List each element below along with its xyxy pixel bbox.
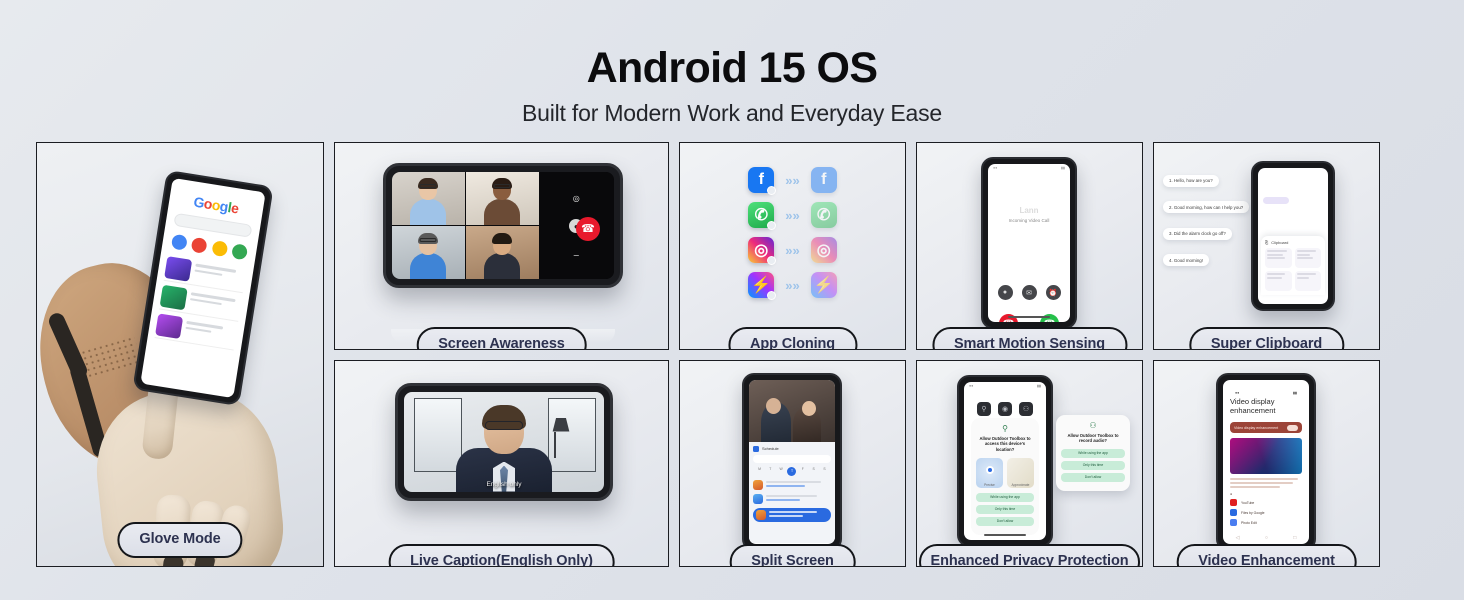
card-text <box>184 318 238 348</box>
feature-card-app-cloning[interactable]: f »» f ✆ »» ✆ ◎ »» ◎ ⚡ »» ⚡ App Cloning <box>679 142 906 350</box>
facebook-icon[interactable]: f <box>748 167 774 193</box>
day-item[interactable]: W <box>777 467 786 476</box>
status-bar: ●●▮▮ <box>988 164 1070 172</box>
rugged-phone-split-screen: Schedule M T W T F S S <box>742 373 842 551</box>
message-row <box>1263 187 1323 194</box>
feature-card-screen-awareness[interactable]: ◎ ● ⚊ ☎ Screen Awareness <box>334 142 669 350</box>
permission-option[interactable]: Don't allow <box>976 517 1034 526</box>
video-person-head <box>766 398 781 414</box>
card-thumbnail <box>164 256 192 282</box>
split-screen-display: Schedule M T W T F S S <box>749 380 835 544</box>
avatar <box>753 494 763 504</box>
rugged-phone-video-enhancement: ●●▮▮ Video display enhancement Video dis… <box>1216 373 1316 551</box>
participant-tile[interactable] <box>392 226 465 279</box>
clipboard-bubble: 4. Good morning! <box>1163 254 1209 266</box>
home-icon[interactable]: ○ <box>1265 535 1268 541</box>
participant-grid <box>392 172 539 279</box>
facebook-clone-icon[interactable]: f <box>811 167 837 193</box>
participant-tile[interactable] <box>466 226 539 279</box>
google-search-screen: Google <box>140 178 265 398</box>
location-pin-icon: ⚲ <box>976 424 1034 433</box>
clone-arrow-icon: »» <box>785 243 799 258</box>
status-bar: ●●▮▮ <box>964 382 1046 390</box>
map-caption: Approximate <box>1007 483 1034 487</box>
permission-option[interactable]: While using the app <box>1061 449 1125 458</box>
enhancement-toggle-row[interactable]: Video display enhancement <box>1230 422 1302 433</box>
app-name: YouTube <box>1241 501 1254 505</box>
page-subtitle: Built for Modern Work and Everyday Ease <box>0 100 1464 127</box>
clone-row: ✆ »» ✆ <box>748 202 836 228</box>
day-item[interactable]: F <box>798 467 807 476</box>
toggle-label: Video display enhancement <box>1234 426 1278 430</box>
photo-edit-icon <box>1230 519 1237 526</box>
map-pin-icon <box>986 466 994 474</box>
message-icon[interactable]: ✉ <box>1022 285 1037 300</box>
feature-label-app-cloning[interactable]: App Cloning <box>728 327 857 350</box>
clone-badge <box>767 221 776 230</box>
video-preview-image <box>1230 438 1302 474</box>
whatsapp-icon[interactable]: ✆ <box>748 202 774 228</box>
sent-message-bubble <box>1263 197 1289 204</box>
list-item[interactable] <box>753 494 831 504</box>
supported-apps-label: ● <box>1230 492 1302 496</box>
app-name: Files by Google <box>1241 511 1265 515</box>
app-name: Photo Edit <box>1241 521 1257 525</box>
feature-label-glove-mode[interactable]: Glove Mode <box>117 522 242 558</box>
glasses-icon <box>485 421 523 430</box>
split-bottom-app[interactable]: Schedule M T W T F S S <box>749 442 835 544</box>
toggle-switch[interactable] <box>1287 425 1298 431</box>
day-item[interactable]: S <box>809 467 818 476</box>
app-clone-list: f »» f ✆ »» ✆ ◎ »» ◎ ⚡ »» ⚡ <box>680 143 905 349</box>
clipboard-bubble: 3. Did the alarm clock go off? <box>1163 228 1232 240</box>
avatar <box>753 480 763 490</box>
microphone-pin-icon: ⚇ <box>1061 421 1125 430</box>
permission-question: Allow Outdoor Toolbox to access this dev… <box>976 436 1034 453</box>
whatsapp-clone-icon[interactable]: ✆ <box>811 202 837 228</box>
search-input[interactable] <box>753 455 831 463</box>
feature-label-live-caption[interactable]: Live Caption(English Only) <box>388 544 615 567</box>
permission-option[interactable]: While using the app <box>976 493 1034 502</box>
lamp-stem <box>554 432 556 458</box>
status-bar: ●●▮▮ <box>1230 389 1302 397</box>
microphone-permission-dialog[interactable]: ⚇ Allow Outdoor Toolbox to record audio?… <box>1056 415 1130 491</box>
clipboard-card-grid <box>1265 248 1321 291</box>
clipboard-card[interactable] <box>1265 271 1292 291</box>
incoming-call-screen: ●●▮▮ Lann Incoming Video Call ● ✉ ⏰ ☎ ☎ <box>988 164 1070 322</box>
home-indicator <box>984 534 1026 536</box>
back-icon[interactable]: ◁ <box>1236 535 1240 541</box>
shortcut-icon[interactable] <box>211 240 228 257</box>
clipboard-screen: ⎘ Clipboard <box>1258 168 1328 304</box>
clipboard-panel-title: ⎘ Clipboard <box>1265 240 1321 245</box>
rugged-phone-privacy: ●●▮▮ ⚲ ◉ ⚇ ⚲ Allow Outdoor Toolbox to ac… <box>957 375 1053 547</box>
feature-card-super-clipboard[interactable]: 1. Hello, how are you? 2. Good morning, … <box>1153 142 1380 350</box>
clone-row: f »» f <box>748 167 836 193</box>
approximate-location-map[interactable]: Approximate <box>1007 458 1034 488</box>
clone-badge <box>767 256 776 265</box>
day-item[interactable]: S <box>820 467 829 476</box>
video-person-head <box>802 401 816 416</box>
messenger-clone-icon[interactable]: ⚡ <box>811 272 837 298</box>
glove-mode-scene: Google <box>37 143 323 566</box>
rugged-phone-landscape-caption: English only <box>395 383 613 501</box>
clipboard-bubble: 1. Hello, how are you? <box>1163 175 1219 187</box>
rugged-phone-clipboard: ⎘ Clipboard <box>1251 161 1335 311</box>
item-text <box>766 481 831 488</box>
clone-arrow-icon: »» <box>785 173 799 188</box>
clipboard-card[interactable] <box>1265 248 1292 268</box>
card-text <box>188 289 242 319</box>
logo-letter: e <box>230 200 240 217</box>
day-item[interactable]: M <box>755 467 764 476</box>
files-icon <box>1230 509 1237 516</box>
call-option-row: ● ✉ ⏰ <box>988 285 1070 300</box>
clipboard-panel: ⎘ Clipboard <box>1261 236 1325 295</box>
privacy-screen: ●●▮▮ ⚲ ◉ ⚇ ⚲ Allow Outdoor Toolbox to ac… <box>964 382 1046 540</box>
clone-row: ◎ »» ◎ <box>748 237 836 263</box>
description-line <box>1230 478 1298 480</box>
location-accuracy-options: Precise Approximate <box>976 458 1034 488</box>
feature-label-video-enhancement[interactable]: Video Enhancement <box>1176 544 1357 567</box>
day-selector[interactable]: M T W T F S S <box>753 467 831 476</box>
clipboard-bubble: 2. Good morning, how can I help you? <box>1163 201 1249 213</box>
call-status-text: Incoming Video Call <box>988 218 1070 223</box>
camera-icon[interactable]: ◎ <box>569 191 583 205</box>
app-list-item[interactable]: Photo Edit <box>1230 519 1302 526</box>
clipboard-card[interactable] <box>1295 248 1322 268</box>
map-caption: Precise <box>976 483 1003 487</box>
youtube-icon <box>1230 499 1237 506</box>
clipboard-icon: ⎘ <box>1265 240 1268 245</box>
shortcut-icon[interactable] <box>231 243 248 260</box>
item-text <box>766 495 831 502</box>
item-text <box>769 511 828 518</box>
app-list-item[interactable]: YouTube <box>1230 499 1302 506</box>
permission-indicator-row: ⚲ ◉ ⚇ <box>964 402 1046 416</box>
video-call-screen: ◎ ● ⚊ ☎ <box>392 172 614 279</box>
rugged-phone-landscape-call: ◎ ● ⚊ ☎ <box>383 163 623 288</box>
caption-bar: English only <box>404 481 604 488</box>
participant-tile[interactable] <box>466 172 539 225</box>
microphone-icon: ⚇ <box>1019 402 1033 416</box>
list-item-selected[interactable] <box>753 508 831 522</box>
remind-icon[interactable]: ⏰ <box>1046 285 1061 300</box>
instagram-clone-icon[interactable]: ◎ <box>811 237 837 263</box>
messenger-icon[interactable]: ⚡ <box>748 272 774 298</box>
home-indicator <box>1008 316 1050 318</box>
clipboard-card[interactable] <box>1295 271 1322 291</box>
list-item[interactable] <box>753 480 831 490</box>
feature-card-smart-motion-sensing[interactable]: ●●▮▮ Lann Incoming Video Call ● ✉ ⏰ ☎ ☎ … <box>916 142 1143 350</box>
navigation-bar: ◁ ○ □ <box>1223 535 1309 541</box>
message-area <box>1258 168 1328 204</box>
caller-name: Lann <box>988 206 1070 215</box>
app-title: Schedule <box>762 446 779 451</box>
google-shortcut-row <box>168 233 251 261</box>
feature-label-screen-awareness[interactable]: Screen Awareness <box>416 327 587 350</box>
app-list-item[interactable]: Files by Google <box>1230 509 1302 516</box>
rugged-phone-glove: Google <box>132 170 273 406</box>
clone-badge <box>767 291 776 300</box>
location-icon: ⚲ <box>977 402 991 416</box>
shortcut-icon[interactable] <box>171 234 188 251</box>
feature-card-glove-mode[interactable]: Google <box>36 142 324 567</box>
flip-camera-icon[interactable]: ⚊ <box>569 247 583 261</box>
settings-title: Video display enhancement <box>1230 397 1302 417</box>
rugged-phone-incoming-call: ●●▮▮ Lann Incoming Video Call ● ✉ ⏰ ☎ ☎ <box>981 157 1077 329</box>
day-item[interactable]: T <box>766 467 775 476</box>
permission-question: Allow Outdoor Toolbox to record audio? <box>1061 433 1125 444</box>
description-line <box>1230 486 1280 488</box>
mute-icon[interactable]: ● <box>998 285 1013 300</box>
feature-label-split-screen[interactable]: Split Screen <box>729 544 856 567</box>
description-line <box>1230 482 1293 484</box>
feature-label-smart-motion-sensing[interactable]: Smart Motion Sensing <box>932 327 1127 350</box>
app-icon <box>753 446 759 452</box>
clone-badge <box>767 186 776 195</box>
feature-card-enhanced-privacy-protection[interactable]: ●●▮▮ ⚲ ◉ ⚇ ⚲ Allow Outdoor Toolbox to ac… <box>916 360 1143 568</box>
card-text <box>193 261 247 291</box>
feature-card-split-screen[interactable]: Schedule M T W T F S S <box>679 360 906 568</box>
video-enhancement-screen: ●●▮▮ Video display enhancement Video dis… <box>1223 380 1309 544</box>
feature-grid: Google <box>36 142 1428 567</box>
camera-icon: ◉ <box>998 402 1012 416</box>
feature-card-video-enhancement[interactable]: ●●▮▮ Video display enhancement Video dis… <box>1153 360 1380 568</box>
clone-arrow-icon: »» <box>785 278 799 293</box>
feature-card-live-caption[interactable]: English only Live Caption(English Only) <box>334 360 669 568</box>
clipboard-title-text: Clipboard <box>1271 240 1288 245</box>
location-permission-dialog[interactable]: ⚲ Allow Outdoor Toolbox to access this d… <box>971 418 1039 535</box>
video-scene: English only <box>404 392 604 492</box>
permission-option[interactable]: Only this time <box>1061 461 1125 470</box>
card-thumbnail <box>160 285 188 311</box>
recents-icon[interactable]: □ <box>1293 535 1296 541</box>
feature-label-enhanced-privacy-protection[interactable]: Enhanced Privacy Protection <box>919 544 1141 567</box>
split-top-video[interactable] <box>749 380 835 442</box>
clone-arrow-icon: »» <box>785 208 799 223</box>
permission-option[interactable]: Don't allow <box>1061 473 1125 482</box>
page-header: Android 15 OS Built for Modern Work and … <box>0 0 1464 127</box>
app-header: Schedule <box>753 446 831 452</box>
card-thumbnail <box>155 313 183 339</box>
day-item-active[interactable]: T <box>787 467 796 476</box>
avatar <box>756 510 766 520</box>
feature-label-super-clipboard[interactable]: Super Clipboard <box>1189 327 1344 350</box>
page-title: Android 15 OS <box>0 46 1464 91</box>
shortcut-icon[interactable] <box>191 237 208 254</box>
live-caption-screen: English only <box>404 392 604 492</box>
end-call-button[interactable]: ☎ <box>576 217 600 241</box>
instagram-icon[interactable]: ◎ <box>748 237 774 263</box>
precise-location-map[interactable]: Precise <box>976 458 1003 488</box>
participant-tile[interactable] <box>392 172 465 225</box>
clone-row: ⚡ »» ⚡ <box>748 272 836 298</box>
permission-option[interactable]: Only this time <box>976 505 1034 514</box>
background-window <box>414 398 462 472</box>
message-row <box>1263 177 1323 184</box>
